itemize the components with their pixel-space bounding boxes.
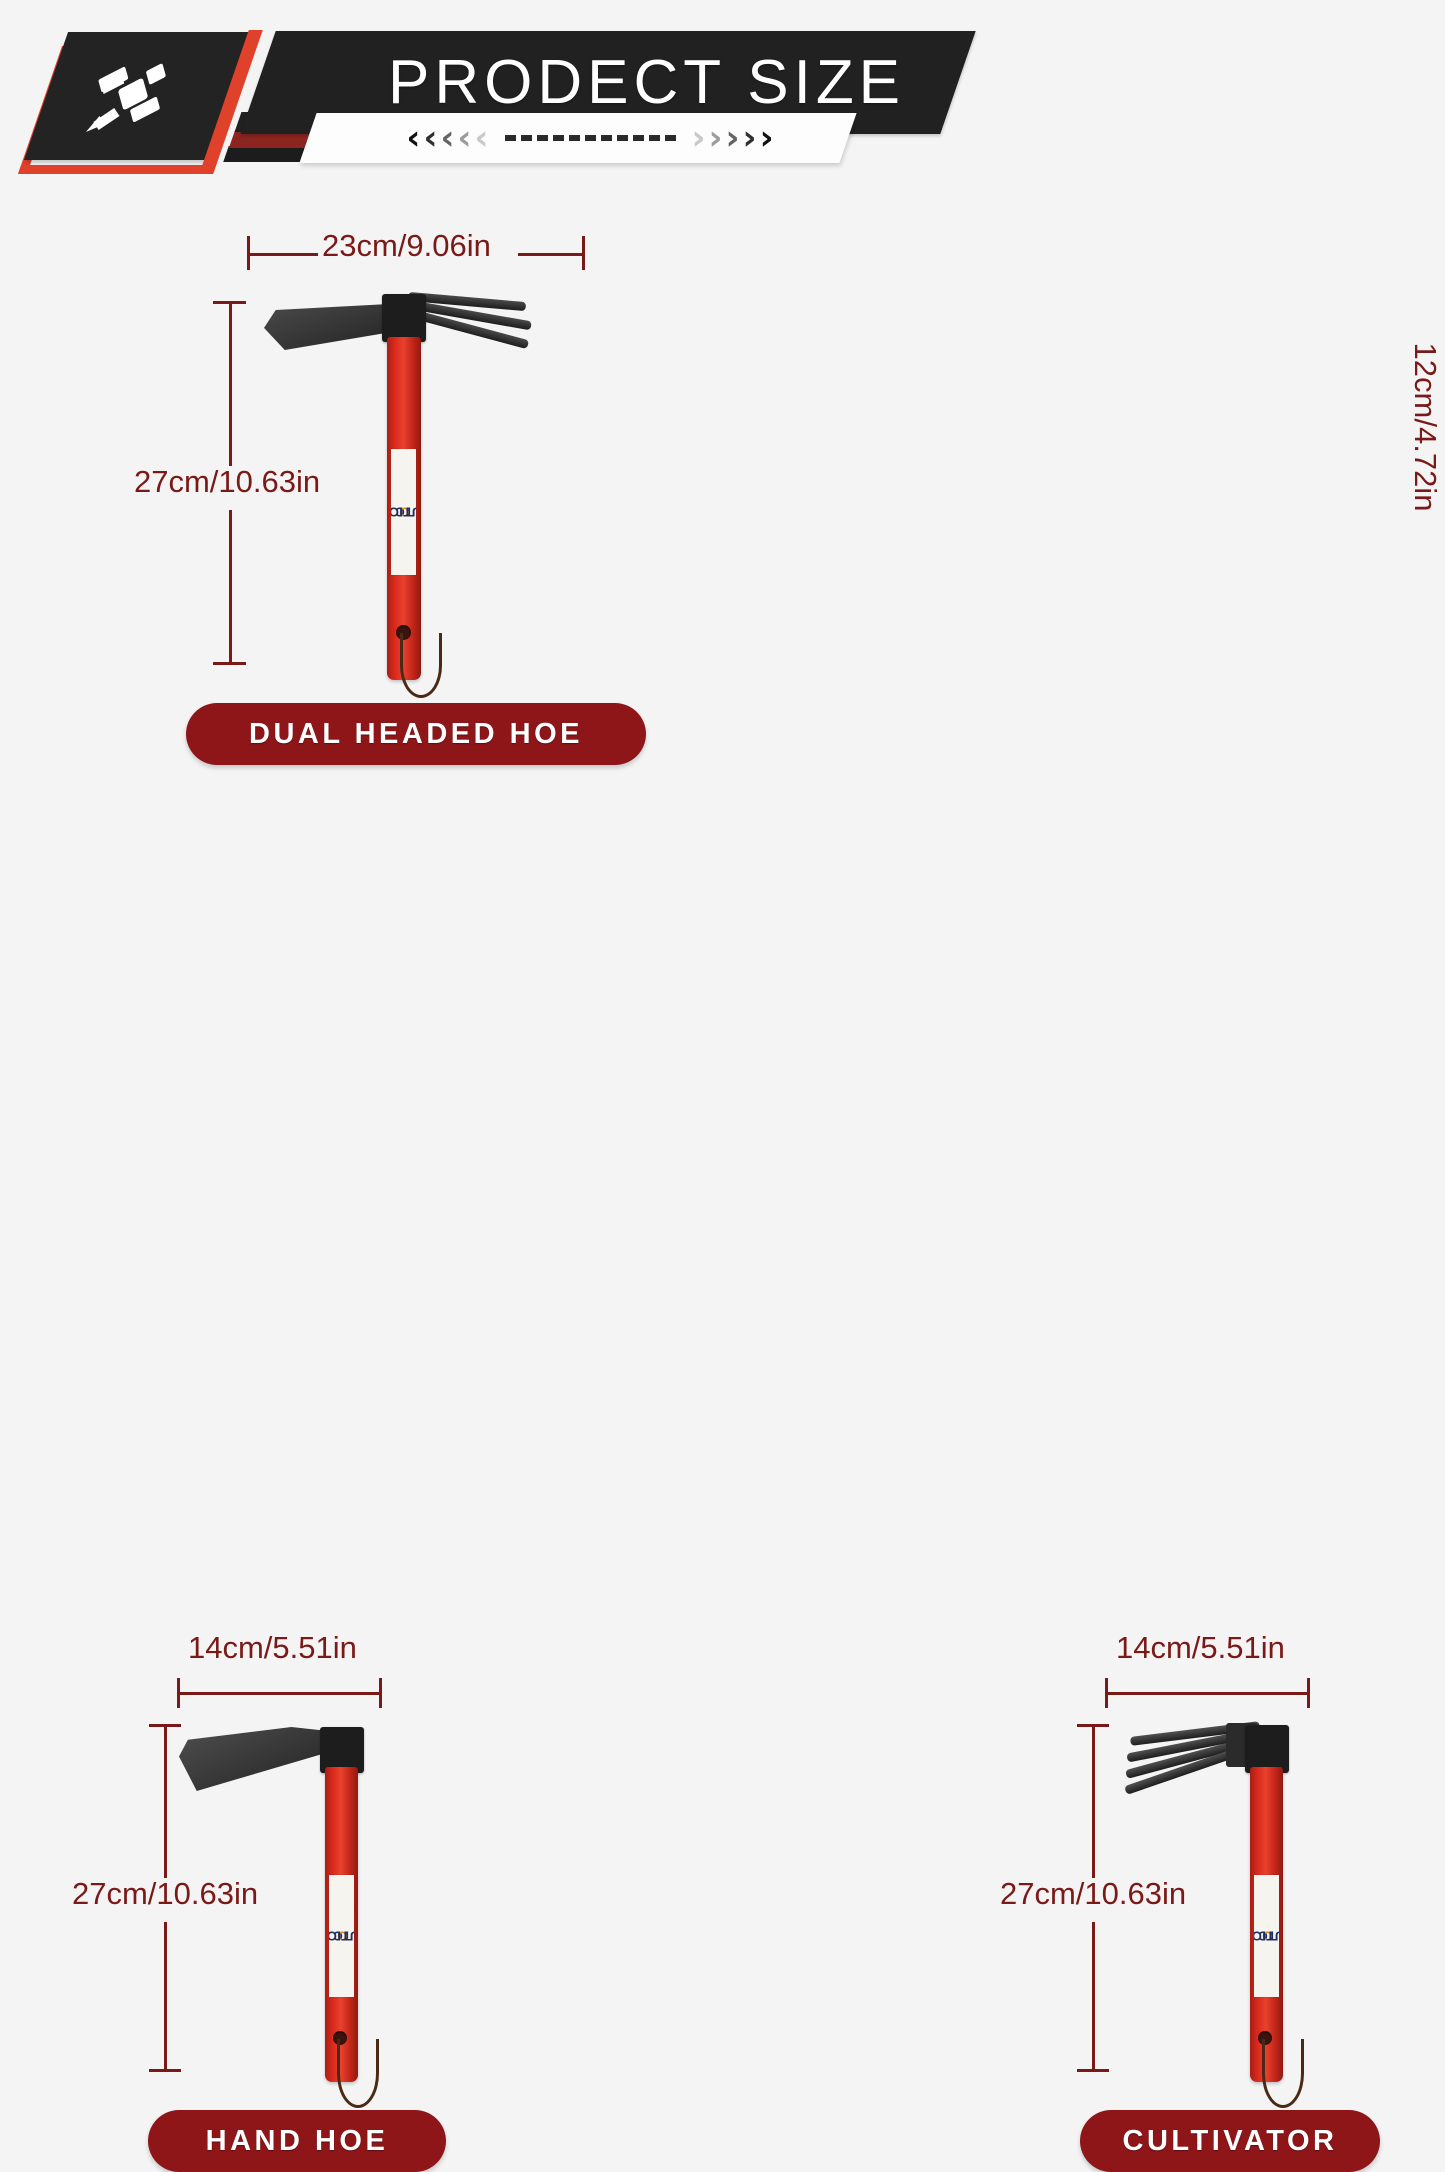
dim-label-width: 23cm/9.06in	[322, 228, 491, 264]
dim-cap-left	[1105, 1678, 1108, 1708]
tool-ferrule	[382, 294, 426, 342]
product-cell-hand-hoe: 14cm/5.51in 27cm/10.63in TCOLUTION HAND …	[0, 790, 480, 1445]
handle-lanyard	[337, 2039, 379, 2108]
dim-label-height-text: 12cm/4.72in	[1407, 341, 1443, 514]
dim-label-width: 14cm/5.51in	[1116, 1630, 1285, 1666]
dim-cap-right	[1307, 1678, 1310, 1708]
tool-ferrule	[1245, 1725, 1289, 1773]
header-chevron-band	[299, 113, 856, 163]
hoe-blade	[179, 1727, 327, 1791]
brand-sticker: TCOLUTION	[391, 449, 416, 575]
dim-cap-left	[247, 236, 250, 270]
product-badge-hand-hoe: HAND HOE	[148, 2110, 446, 2172]
tool-illustration-hand-hoe: TCOLUTION	[175, 1715, 395, 2115]
hoe-blade	[264, 304, 394, 350]
product-cell-pick-axe: 23.5cm/9.25in 27cm/10.63in TCOLUTION PIC…	[960, 790, 1445, 1445]
handle-lanyard	[400, 633, 442, 698]
dim-cap-right	[582, 236, 585, 270]
tool-illustration-dual-headed-hoe: TCOLUTION	[260, 285, 620, 700]
tool-illustration-cultivator: TCOLUTION	[1100, 1715, 1320, 2115]
dim-cap-bottom	[213, 662, 246, 665]
dim-label-width: 14cm/5.51in	[188, 1630, 357, 1666]
brand-sticker: TCOLUTION	[329, 1875, 354, 1997]
brand-sticker: TCOLUTION	[1254, 1875, 1279, 1997]
dim-cap-right	[379, 1678, 382, 1708]
dim-cap-left	[177, 1678, 180, 1708]
dim-cap-top	[213, 301, 246, 304]
product-cell-cultivator: 14cm/5.51in 27cm/10.63in TCOLUTION CULTI…	[480, 790, 960, 1445]
product-badge-cultivator: CULTIVATOR	[1080, 2110, 1380, 2172]
dim-line-horizontal	[177, 1692, 382, 1695]
product-badge-dual-headed-hoe: DUAL HEADED HOE	[186, 703, 646, 765]
dim-line-horizontal	[1105, 1692, 1310, 1695]
handle-lanyard	[1262, 2039, 1304, 2108]
dim-label-height: 12cm/4.72in	[1403, 334, 1445, 520]
